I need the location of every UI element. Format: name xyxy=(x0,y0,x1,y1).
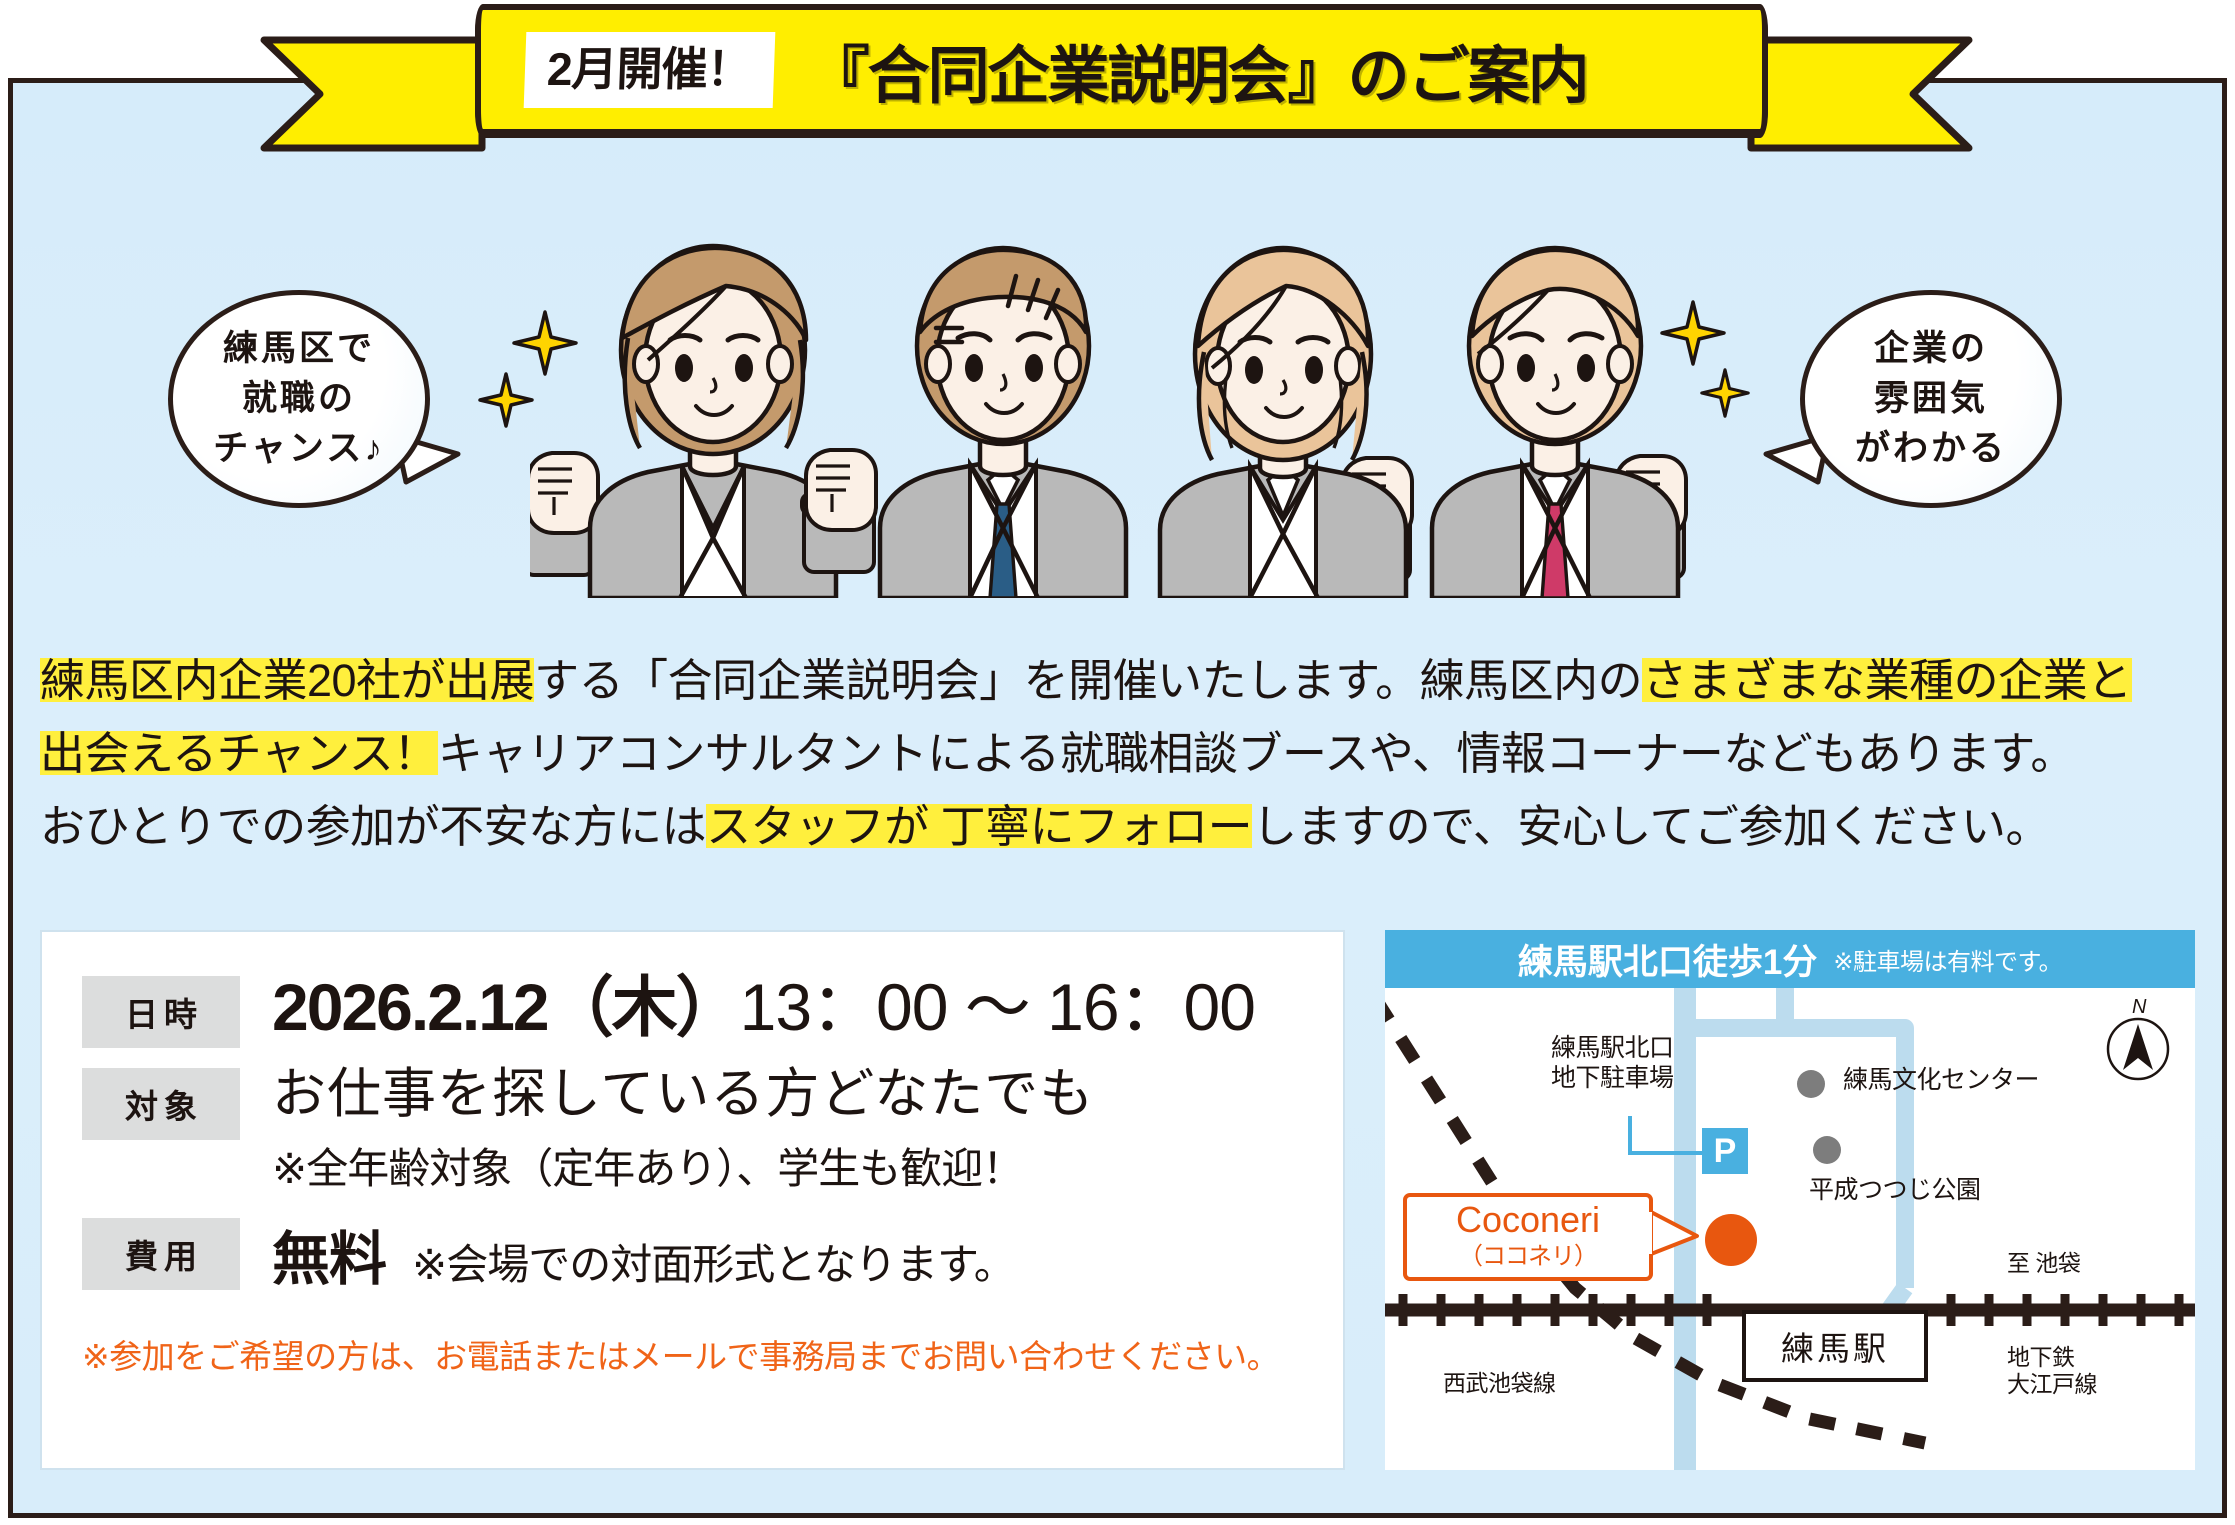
person-1 xyxy=(530,246,836,598)
map-header: 練馬駅北口徒歩1分 ※駐車場は有料です。 xyxy=(1385,930,2195,988)
map-header-note: ※駐車場は有料です。 xyxy=(1833,942,2062,977)
compass-icon: N xyxy=(2105,998,2171,1080)
info-fee-value: 無料 xyxy=(272,1212,386,1296)
info-row-target: 対象 お仕事を探している方どなたでも ※全年齢対象（定年あり）、学生も歓迎！ xyxy=(82,1062,1303,1196)
map-label-parking: 練馬駅北口 地下駐車場 xyxy=(1551,1034,1674,1093)
ribbon-title: 『合同企業説明会』のご案内 xyxy=(808,25,1588,115)
parking-marker-icon: P xyxy=(1702,1128,1748,1174)
info-fee-note: ※会場での対面形式となります。 xyxy=(412,1231,1015,1292)
bubble-right-line-3: がわかる xyxy=(1855,424,2007,474)
ribbon-banner: 2月開催！ 『合同企業説明会』のご案内 xyxy=(0,0,2235,175)
description-rest-2: キャリアコンサルタントによる就職相談ブースや、情報コーナーなどもあります。 xyxy=(438,728,2075,779)
map-dot-tsutsuji-park xyxy=(1813,1136,1841,1164)
map-label-seibu-line: 西武池袋線 xyxy=(1443,1370,1556,1397)
map-label-to-ikebukuro: 至 池袋 xyxy=(2007,1250,2080,1277)
map-label-tsutsuji-park: 平成つつじ公園 xyxy=(1809,1176,1981,1206)
map-label-subway: 地下鉄 大江戸線 xyxy=(2007,1344,2097,1398)
access-map-card: 練馬駅北口徒歩1分 ※駐車場は有料です。 xyxy=(1385,930,2195,1470)
coconeri-name-jp: （ココネリ） xyxy=(1459,1241,1597,1272)
sparkle-icon xyxy=(1700,368,1750,423)
coconeri-callout-pointer xyxy=(1649,1210,1701,1260)
bubble-right-line-1: 企業の xyxy=(1874,324,1988,374)
map-station-box: 練馬駅 xyxy=(1742,1310,1928,1382)
sparkle-icon xyxy=(1660,300,1726,371)
map-header-title: 練馬駅北口徒歩1分 xyxy=(1518,934,1817,985)
bubble-right-line-2: 雰囲気 xyxy=(1874,374,1988,424)
description-highlight-4: スタッフが 丁寧にフォロー xyxy=(706,801,1252,852)
person-4 xyxy=(1432,248,1686,598)
coconeri-location-dot xyxy=(1705,1214,1757,1266)
event-info-card: 日時 2026.2.12（木）13：00 ～ 16：00 対象 お仕事を探してい… xyxy=(40,930,1345,1470)
info-target-note: ※全年齢対象（定年あり）、学生も歓迎！ xyxy=(272,1135,1094,1196)
sparkle-icon xyxy=(478,372,534,433)
bubble-left-line-1: 練馬区で xyxy=(223,324,375,374)
map-label-parking-line1: 練馬駅北口 xyxy=(1551,1034,1674,1064)
ribbon-tail-right xyxy=(1745,34,1975,154)
map-label-parking-line2: 地下駐車場 xyxy=(1551,1064,1674,1094)
ribbon-tail-left xyxy=(258,34,488,154)
info-datetime-time: 13：00 ～ 16：00 xyxy=(740,970,1255,1044)
description-line-3: おひとりでの参加が不安な方にはスタッフが 丁寧にフォローしますので、安心してご参… xyxy=(40,791,2195,864)
description-line-1: 練馬区内企業20社が出展する「合同企業説明会」を開催いたします。練馬区内のさまざ… xyxy=(40,645,2195,718)
description-post-3: しますので、安心してご参加ください。 xyxy=(1252,801,2050,852)
info-tag-datetime: 日時 xyxy=(82,976,240,1048)
description-highlight-3: 出会えるチャンス！ xyxy=(40,728,438,779)
description-highlight-2: さまざまな業種の企業と xyxy=(1642,655,2132,706)
bubble-left-line-3: チャンス♪ xyxy=(213,424,384,474)
description-highlight-1: 練馬区内企業20社が出展 xyxy=(40,655,534,706)
info-tag-target: 対象 xyxy=(82,1068,240,1140)
map-dot-culture-center xyxy=(1797,1070,1825,1098)
info-target-value: お仕事を探している方どなたでも xyxy=(272,1062,1094,1127)
sparkle-icon xyxy=(512,310,578,381)
contact-note: ※参加をご希望の方は、お電話またはメールで事務局までお問い合わせください。 xyxy=(82,1330,1303,1378)
bubble-left-line-2: 就職の xyxy=(242,374,356,424)
ribbon-main-body: 2月開催！ 『合同企業説明会』のご案内 xyxy=(475,4,1768,135)
coconeri-name-en: Coconeri xyxy=(1456,1202,1600,1238)
map-label-subway-line1: 地下鉄 xyxy=(2007,1344,2097,1371)
description-pre-3: おひとりでの参加が不安な方には xyxy=(40,801,706,852)
coconeri-callout: Coconeri （ココネリ） xyxy=(1403,1193,1653,1281)
description-line-2: 出会えるチャンス！キャリアコンサルタントによる就職相談ブースや、情報コーナーなど… xyxy=(40,718,2195,791)
ribbon-month-badge: 2月開催！ xyxy=(524,32,775,108)
speech-bubble-left: 練馬区で 就職の チャンス♪ xyxy=(168,290,430,508)
map-label-subway-line2: 大江戸線 xyxy=(2007,1371,2097,1398)
person-2 xyxy=(802,248,1126,598)
speech-bubble-right: 企業の 雰囲気 がわかる xyxy=(1800,290,2062,508)
description-paragraph: 練馬区内企業20社が出展する「合同企業説明会」を開催いたします。練馬区内のさまざ… xyxy=(40,645,2195,864)
people-illustration xyxy=(530,228,1715,598)
info-tag-fee: 費用 xyxy=(82,1218,240,1290)
map-body: 練馬駅北口 地下駐車場 P 練馬文化センター 平成つつじ公園 Coconeri … xyxy=(1385,988,2195,1470)
info-datetime-date: 2026.2.12（木） xyxy=(272,970,740,1044)
person-3 xyxy=(1160,248,1412,598)
info-datetime-value: 2026.2.12（木）13：00 ～ 16：00 xyxy=(272,970,1255,1046)
map-label-culture-center: 練馬文化センター xyxy=(1843,1066,2039,1096)
info-row-datetime: 日時 2026.2.12（木）13：00 ～ 16：00 xyxy=(82,970,1303,1048)
info-row-fee: 費用 無料 ※会場での対面形式となります。 xyxy=(82,1212,1303,1296)
poster-root: 2月開催！ 『合同企業説明会』のご案内 練馬区で 就職の チャンス♪ 企業の 雰… xyxy=(0,0,2235,1525)
description-mid-1: する「合同企業説明会」を開催いたします。練馬区内の xyxy=(534,655,1642,706)
